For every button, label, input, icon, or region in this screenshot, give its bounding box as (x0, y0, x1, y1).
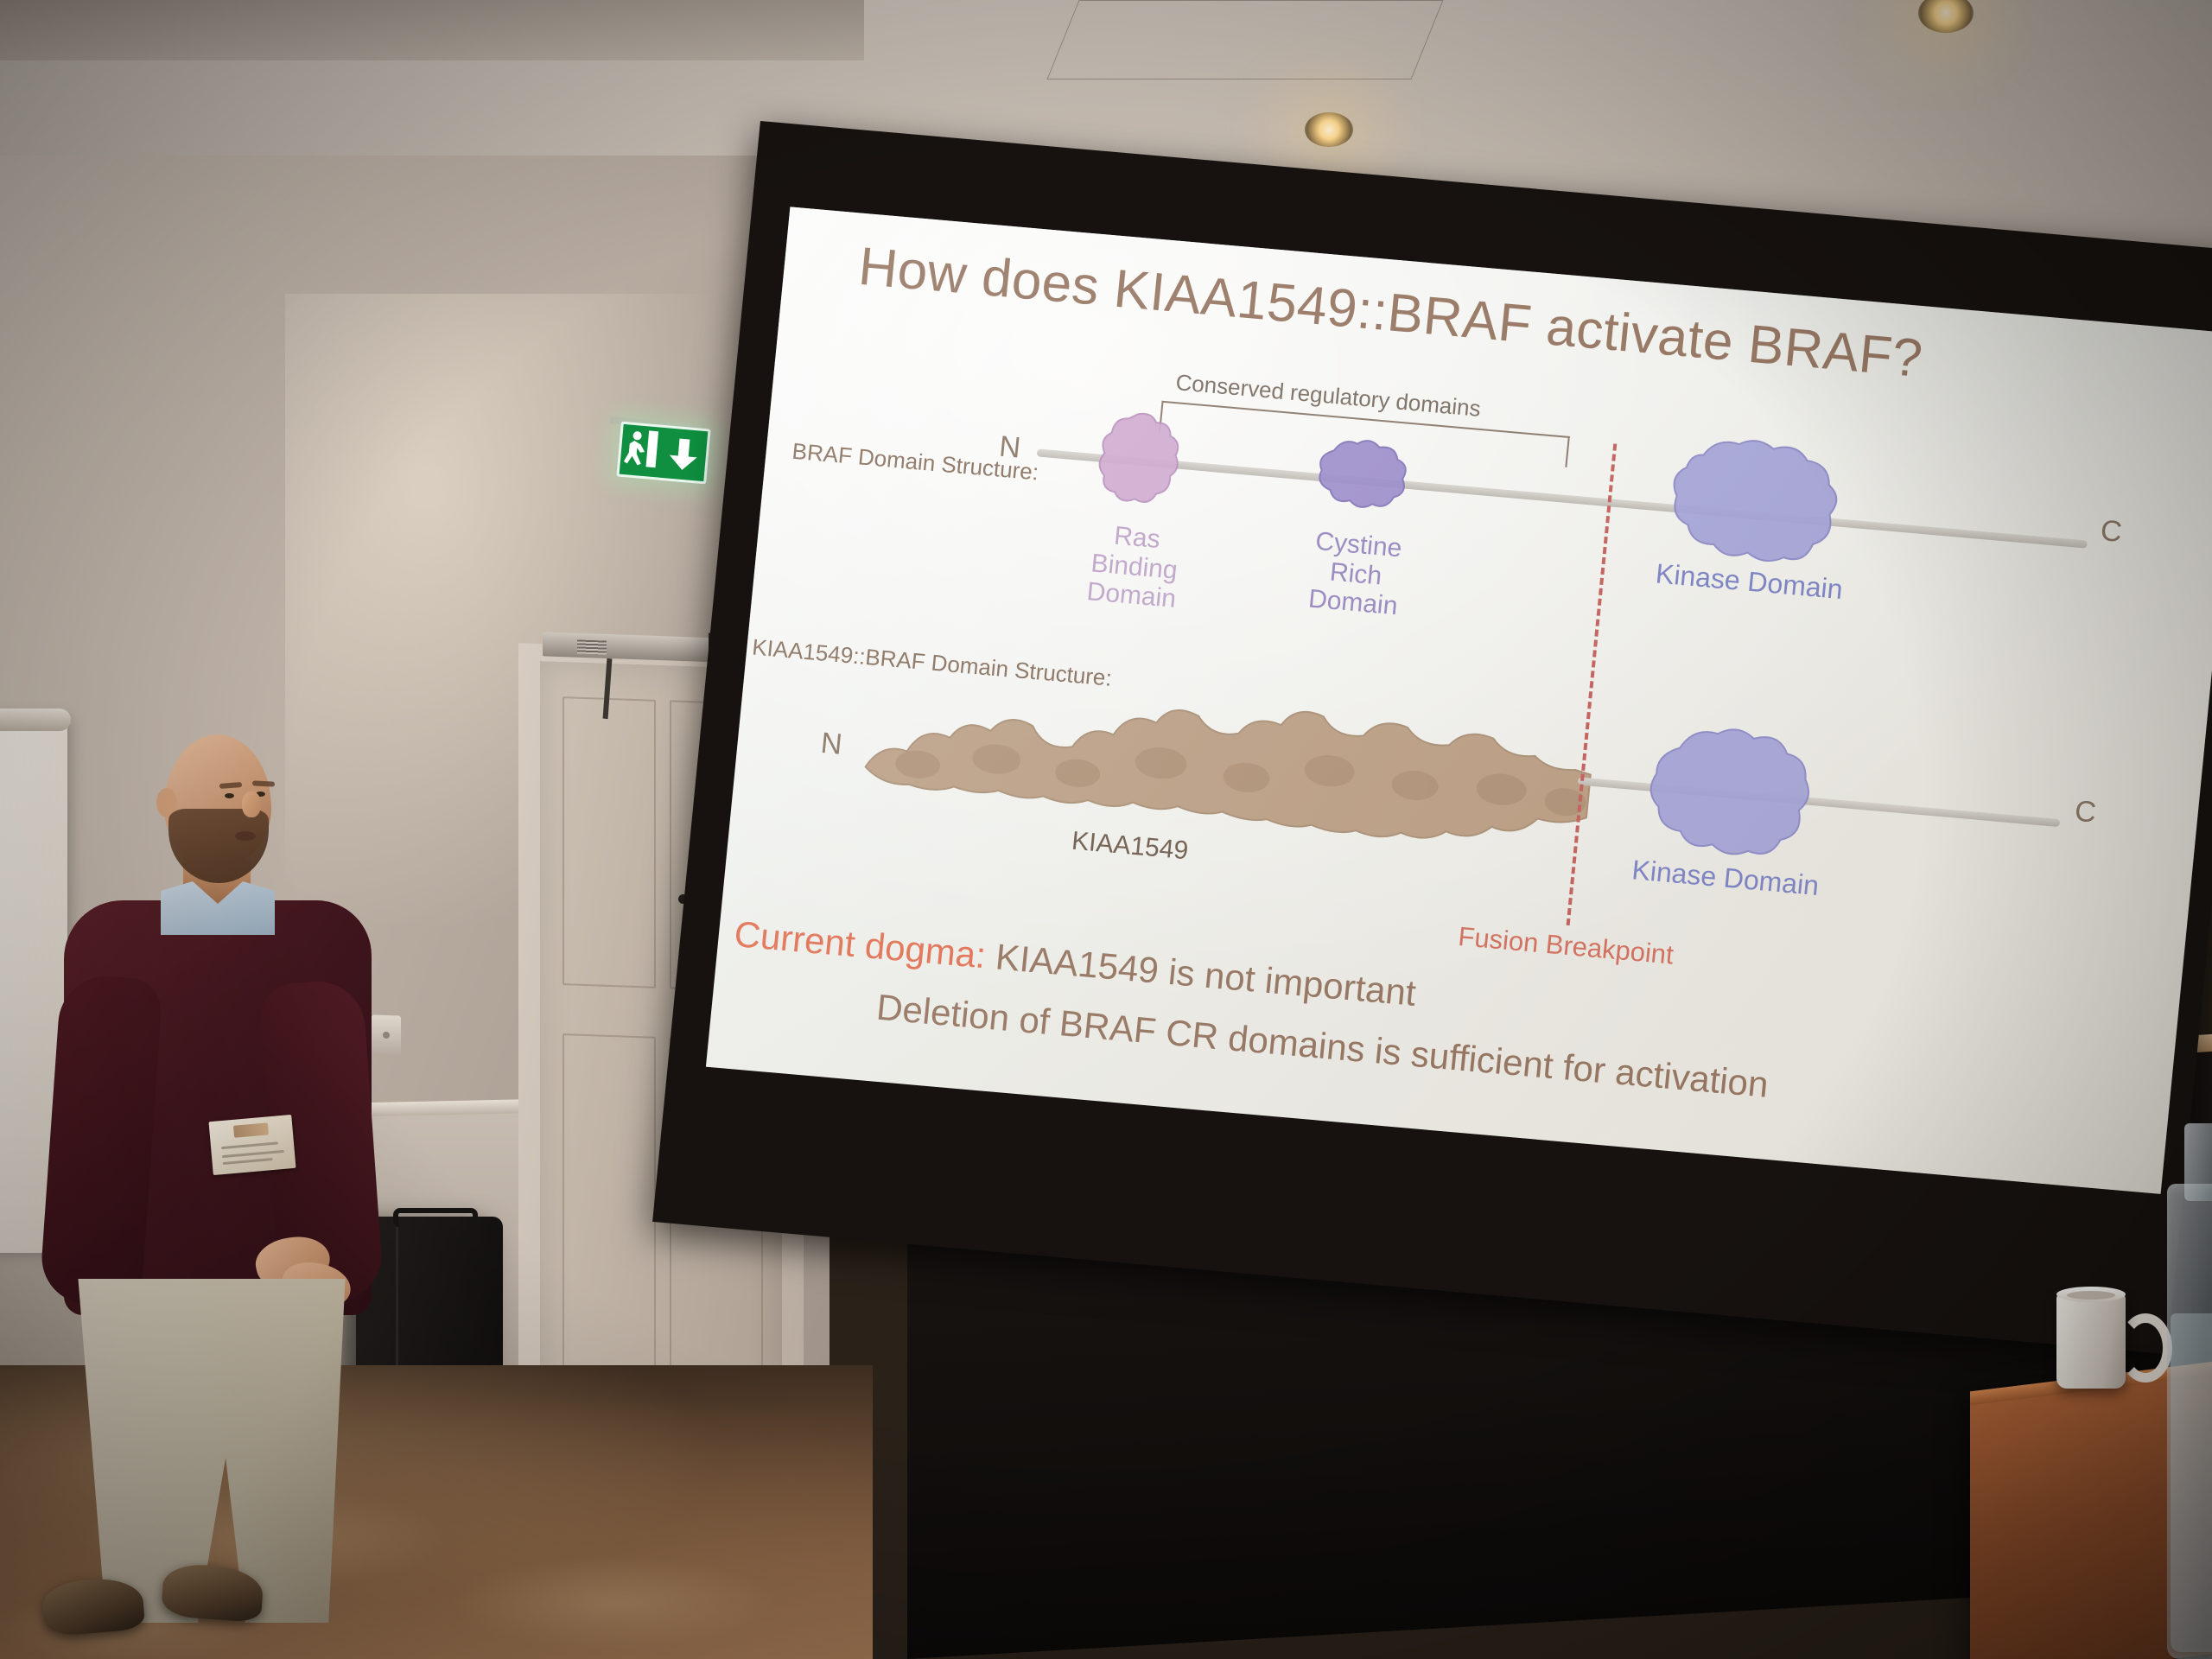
presenter-nose (242, 791, 261, 817)
door-panel (563, 696, 656, 988)
fusion-c-terminus: C (2073, 795, 2097, 830)
ceiling-access-panel (1046, 0, 1443, 79)
braf-n-terminus: N (998, 430, 1022, 466)
projection-screen: How does KIAA1549::BRAF activate BRAF? C… (652, 121, 2212, 1354)
badge-logo (233, 1122, 269, 1137)
presentation-slide: How does KIAA1549::BRAF activate BRAF? C… (706, 207, 2212, 1194)
presenter-eye (225, 793, 234, 798)
presenter-brow (252, 780, 275, 786)
presenter (35, 734, 406, 1659)
coffee-mug (2056, 1294, 2126, 1389)
flipchart-top-rail (0, 709, 71, 731)
water-bottle-neck (2184, 1123, 2212, 1201)
fusion-n-terminus: N (819, 727, 843, 762)
cystine-rich-domain-label: Cystine Rich Domain (1272, 524, 1440, 625)
mug-handle (2119, 1313, 2172, 1382)
water-bottle-contents (2171, 1313, 2212, 1652)
kiaa1549-partner-blob (854, 658, 1608, 864)
current-dogma-line-1: Current dogma: KIAA1549 is not important (733, 913, 1418, 1014)
braf-c-terminus: C (2099, 514, 2123, 550)
presenter-mouth (235, 831, 256, 841)
ceiling-shadow (0, 0, 864, 60)
ceiling-downlight (1305, 112, 1353, 147)
name-badge (208, 1115, 296, 1175)
ras-binding-domain-blob (1090, 408, 1195, 517)
photo-scene: ZUTRITT NUR FÜR PERSONAL STAFF ONLY (0, 0, 2212, 1659)
ras-binding-domain-label: Ras Binding Domain (1057, 517, 1211, 616)
carpet-pattern (449, 1555, 778, 1650)
emergency-exit-icon (616, 422, 710, 485)
kinase-domain-blob-fusion (1637, 714, 1822, 871)
door-closer-vent (577, 639, 607, 654)
cystine-rich-domain-blob (1309, 431, 1416, 518)
door-panel (563, 1033, 656, 1403)
current-dogma-lead: Current dogma: (733, 913, 988, 976)
fusion-breakpoint-label: Fusion Breakpoint (1457, 921, 1675, 971)
mug-interior (2067, 1291, 2115, 1300)
kiaa1549-caption: KIAA1549 (1071, 827, 1190, 867)
kinase-domain-blob-braf (1656, 428, 1850, 577)
